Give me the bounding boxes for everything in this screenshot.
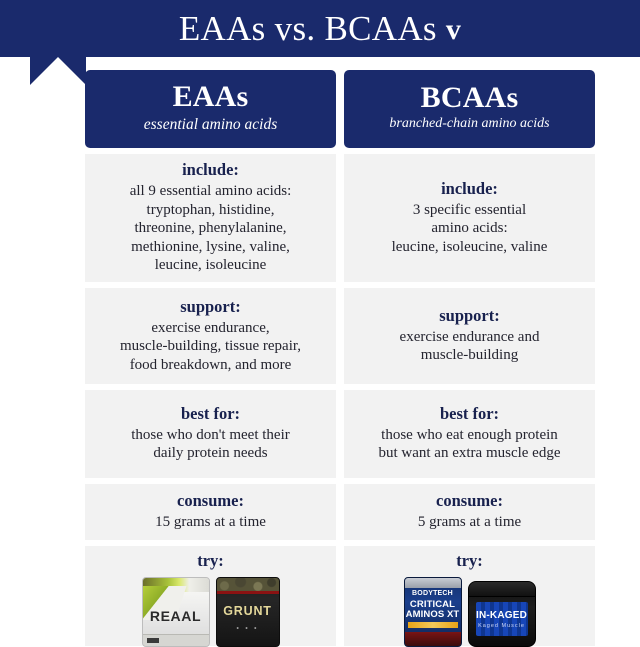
column-title-eaas: EAAs: [173, 81, 249, 112]
cell-label: try:: [456, 552, 483, 571]
page-title: EAAs vs. BCAAs v: [0, 0, 640, 57]
cell-body: exercise endurance, muscle-building, tis…: [120, 319, 301, 375]
product-name-reaal: REAAL: [143, 608, 209, 624]
tub-bottom-band: [405, 632, 461, 646]
product-name-critical-aminos-xt: CRITICAL AMINOS XT: [405, 600, 461, 619]
cell-bcaas-best-for: best for: those who eat enough protein b…: [344, 390, 595, 478]
cell-label: include:: [441, 180, 498, 199]
cell-label: try:: [197, 552, 224, 571]
tub-detail-dots: • • •: [217, 624, 279, 633]
cell-label: consume:: [177, 492, 244, 511]
top-banner: EAAs vs. BCAAs v: [0, 0, 640, 57]
tub-lid: [405, 578, 461, 588]
column-header-bcaas: BCAAs branched-chain amino acids: [344, 70, 595, 148]
cell-body: 5 grams at a time: [418, 513, 521, 532]
cell-bcaas-consume: consume: 5 grams at a time: [344, 484, 595, 540]
cell-label: consume:: [436, 492, 503, 511]
cell-eaas-include: include: all 9 essential amino acids: tr…: [85, 154, 336, 282]
page-title-text: EAAs vs. BCAAs: [179, 9, 437, 49]
tub-lid-camo: [217, 578, 279, 591]
product-in-kaged[interactable]: IN-KAGED Kaged Muscle: [468, 581, 536, 647]
cell-eaas-best-for: best for: those who don't meet their dai…: [85, 390, 336, 478]
cell-eaas-support: support: exercise endurance, muscle-buil…: [85, 288, 336, 384]
banner-pointer-triangle: [30, 57, 86, 85]
product-images-bcaas: BODYTECH CRITICAL AMINOS XT IN-KAGED Kag…: [404, 577, 536, 647]
product-critical-aminos-xt[interactable]: BODYTECH CRITICAL AMINOS XT: [404, 577, 462, 647]
product-grunt[interactable]: GRUNT • • •: [216, 577, 280, 647]
cell-bcaas-include: include: 3 specific essential amino acid…: [344, 154, 595, 282]
cell-body: exercise endurance and muscle-building: [400, 328, 540, 365]
column-subtitle-bcaas: branched-chain amino acids: [389, 116, 549, 131]
cell-label: best for:: [181, 405, 240, 424]
cell-label: support:: [180, 298, 241, 317]
cell-body: those who don't meet their daily protein…: [131, 426, 290, 463]
brand-v-logo-icon: v: [446, 13, 461, 47]
cell-bcaas-try: try: BODYTECH CRITICAL AMINOS XT IN-KAGE…: [344, 546, 595, 646]
infographic-page: EAAs vs. BCAAs v EAAs essential amino ac…: [0, 0, 640, 640]
comparison-grid: EAAs essential amino acids include: all …: [85, 70, 595, 646]
column-bcaas: BCAAs branched-chain amino acids include…: [344, 70, 595, 646]
tub-accent-line: [217, 591, 279, 594]
cell-body: all 9 essential amino acids: tryptophan,…: [130, 182, 292, 275]
cell-body: those who eat enough protein but want an…: [378, 426, 560, 463]
product-images-eaas: REAAL GRUNT • • •: [142, 577, 280, 647]
product-reaal[interactable]: REAAL: [142, 577, 210, 647]
tub-accent-strip: [408, 622, 458, 628]
cell-body: 15 grams at a time: [155, 513, 266, 532]
cell-eaas-try: try: REAAL GRUNT • • •: [85, 546, 336, 646]
column-eaas: EAAs essential amino acids include: all …: [85, 70, 336, 646]
tub-lid: [469, 582, 535, 597]
cell-label: include:: [182, 161, 239, 180]
product-brand-kaged-muscle: Kaged Muscle: [469, 623, 535, 629]
cell-label: support:: [439, 307, 500, 326]
cell-label: best for:: [440, 405, 499, 424]
product-brand-bodytech: BODYTECH: [405, 590, 461, 597]
product-name-grunt: GRUNT: [217, 604, 279, 618]
column-title-bcaas: BCAAs: [421, 82, 519, 113]
column-header-eaas: EAAs essential amino acids: [85, 70, 336, 148]
cell-bcaas-support: support: exercise endurance and muscle-b…: [344, 288, 595, 384]
product-name-in-kaged: IN-KAGED: [469, 610, 535, 621]
column-subtitle-eaas: essential amino acids: [144, 116, 277, 133]
cell-eaas-consume: consume: 15 grams at a time: [85, 484, 336, 540]
cell-body: 3 specific essential amino acids: leucin…: [392, 201, 548, 257]
